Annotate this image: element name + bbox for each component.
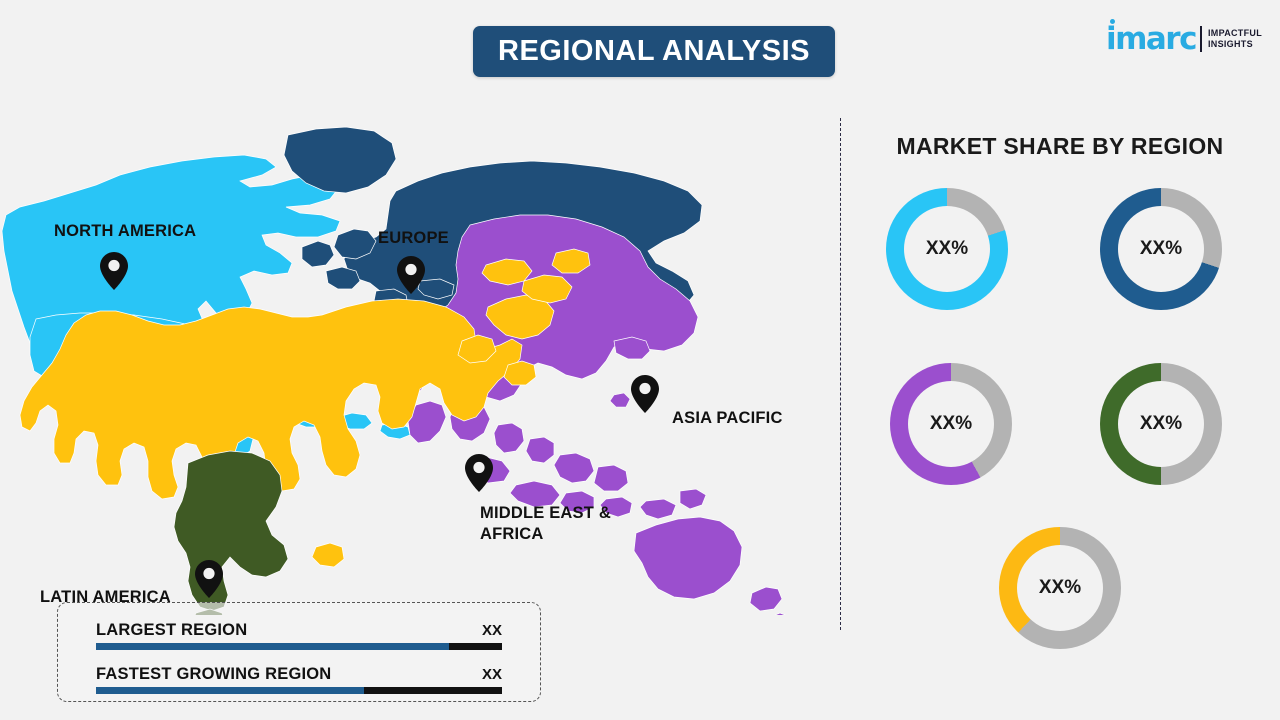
legend-row-fastest-growing-region: FASTEST GROWING REGION XX — [96, 665, 502, 694]
map-pin-icon-latin-america[interactable] — [195, 560, 223, 598]
legend-row-largest-region: LARGEST REGION XX — [96, 621, 502, 650]
legend-progress-fill-largest — [96, 643, 449, 650]
donut-value-latin-america: XX% — [1140, 413, 1182, 435]
donut-hole: XX% — [1118, 381, 1204, 467]
logo-divider — [1200, 26, 1202, 52]
donut-value-north-america: XX% — [926, 238, 968, 260]
donut-hole: XX% — [1118, 206, 1204, 292]
world-map-panel: NORTH AMERICA EUROPE ASIA PACIFIC MIDDLE… — [0, 95, 830, 615]
map-region-latin-america — [174, 451, 288, 615]
legend-progress-fill-fastest — [96, 687, 364, 694]
map-label-north-america: NORTH AMERICA — [54, 221, 196, 242]
panel-divider — [840, 118, 841, 630]
map-pin-icon-asia-pacific[interactable] — [631, 375, 659, 413]
page-title-banner: REGIONAL ANALYSIS — [473, 26, 835, 77]
legend-label-fastest-growing-region: FASTEST GROWING REGION — [96, 665, 331, 684]
legend-value-largest-region: XX — [482, 622, 502, 639]
map-label-middle-east-africa: MIDDLE EAST & AFRICA — [480, 503, 611, 545]
imarc-logo: imarc IMPACTFUL INSIGHTS — [1106, 20, 1262, 58]
map-label-europe: EUROPE — [378, 228, 449, 249]
donut-chart-middle-east-africa: XX% — [999, 527, 1121, 649]
donut-value-europe: XX% — [1140, 238, 1182, 260]
world-map-svg — [0, 95, 830, 615]
market-share-title: MARKET SHARE BY REGION — [840, 133, 1280, 160]
legend-label-largest-region: LARGEST REGION — [96, 621, 247, 640]
donut-hole: XX% — [908, 381, 994, 467]
donut-chart-north-america: XX% — [886, 188, 1008, 310]
legend-progress-track-fastest — [96, 687, 502, 694]
logo-wordmark: imarc — [1106, 24, 1196, 54]
map-pin-icon-europe[interactable] — [397, 256, 425, 294]
legend-head: FASTEST GROWING REGION XX — [96, 665, 502, 684]
logo-tagline: IMPACTFUL INSIGHTS — [1208, 28, 1262, 50]
donut-chart-europe: XX% — [1100, 188, 1222, 310]
donut-value-middle-east-africa: XX% — [1039, 577, 1081, 599]
region-legend-box: LARGEST REGION XX FASTEST GROWING REGION… — [57, 602, 541, 702]
donut-value-asia-pacific: XX% — [930, 413, 972, 435]
logo-tagline-line2: INSIGHTS — [1208, 39, 1262, 50]
regional-analysis-infographic: REGIONAL ANALYSIS imarc IMPACTFUL INSIGH… — [0, 0, 1280, 720]
map-region-antarctica-fragments — [610, 393, 630, 407]
legend-value-fastest-growing-region: XX — [482, 666, 502, 683]
logo-tagline-line1: IMPACTFUL — [1208, 28, 1262, 39]
donut-hole: XX% — [1017, 545, 1103, 631]
donut-chart-latin-america: XX% — [1100, 363, 1222, 485]
page-title: REGIONAL ANALYSIS — [498, 35, 810, 68]
logo-word: imarc — [1106, 21, 1196, 57]
legend-progress-track-largest — [96, 643, 502, 650]
map-label-asia-pacific: ASIA PACIFIC — [672, 408, 783, 429]
map-pin-icon-middle-east-africa[interactable] — [465, 454, 493, 492]
donut-hole: XX% — [904, 206, 990, 292]
legend-head: LARGEST REGION XX — [96, 621, 502, 640]
map-pin-icon-north-america[interactable] — [100, 252, 128, 290]
donut-chart-asia-pacific: XX% — [890, 363, 1012, 485]
logo-dot-icon — [1110, 19, 1115, 24]
